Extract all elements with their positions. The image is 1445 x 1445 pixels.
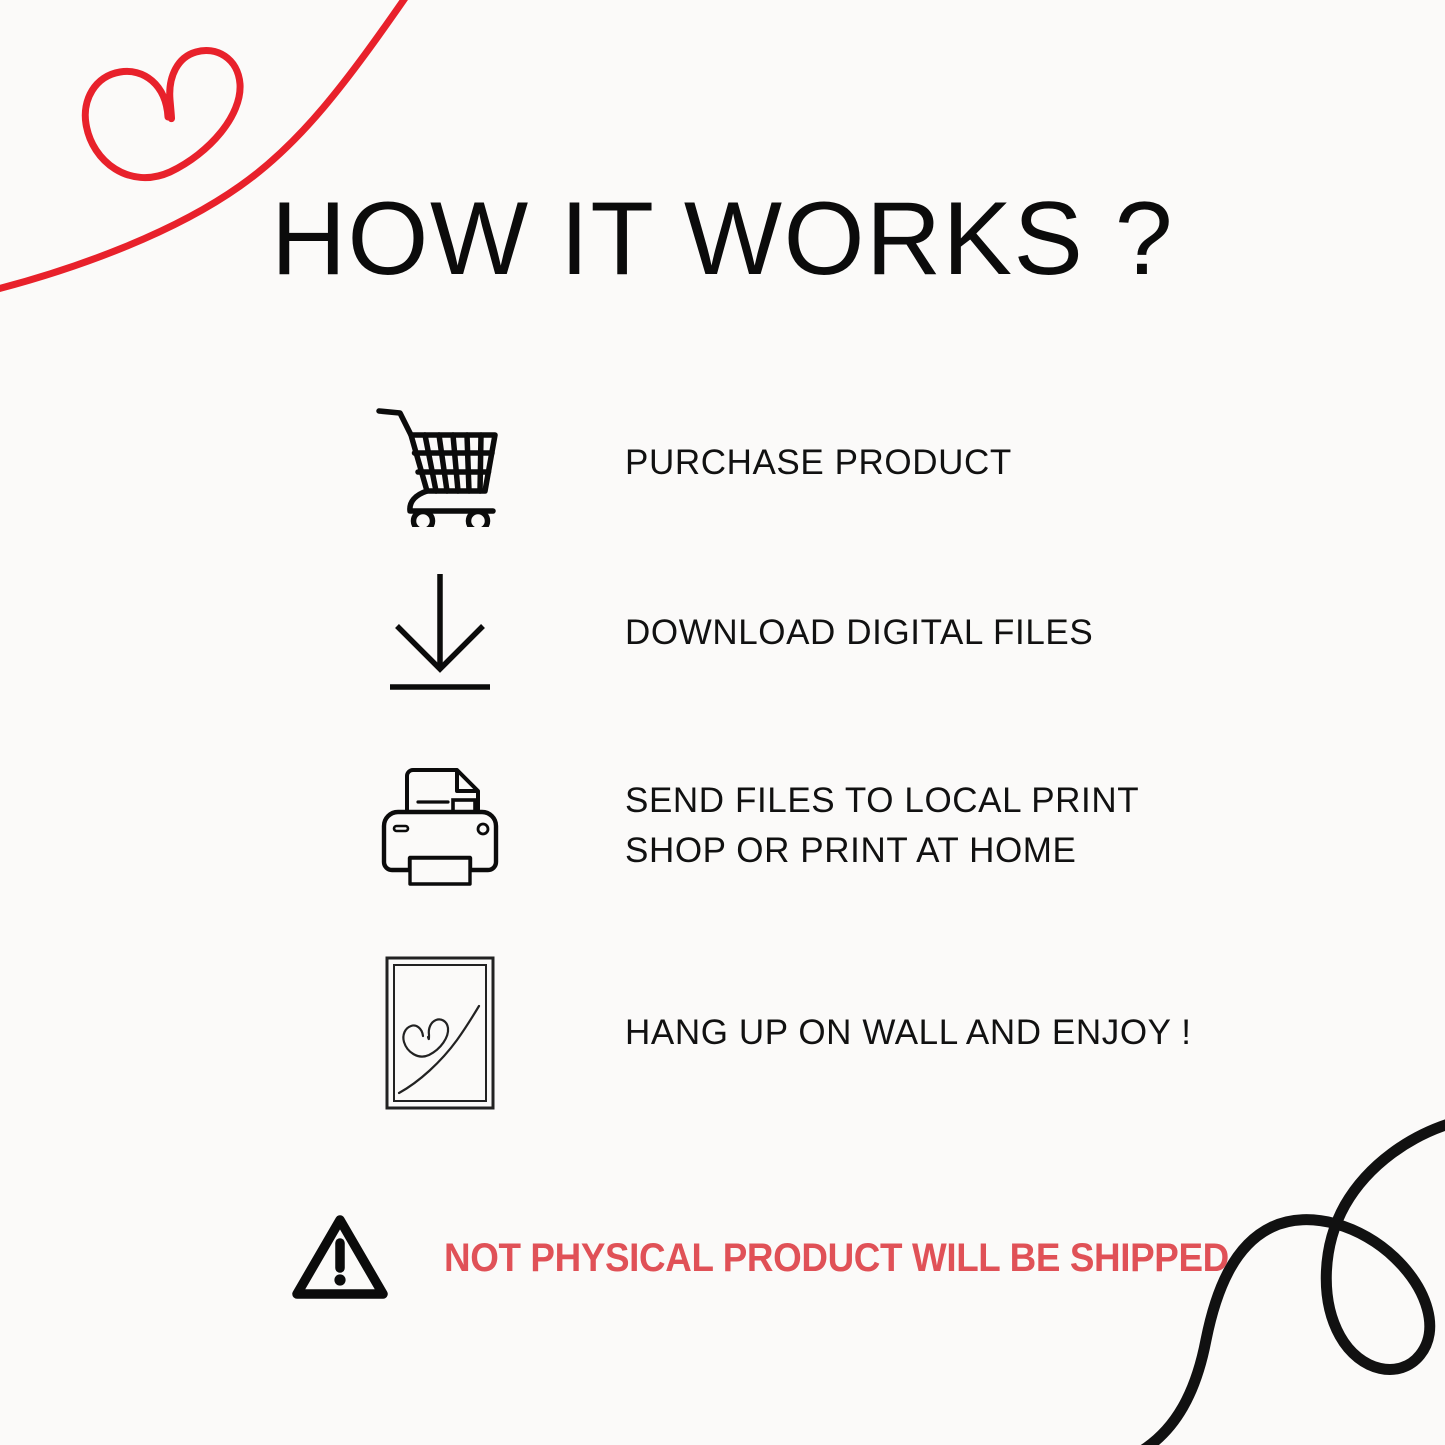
step-item-download: DOWNLOAD DIGITAL FILES	[365, 548, 1265, 718]
step-label-hang: HANG UP ON WALL AND ENJOY !	[625, 1008, 1192, 1058]
step-item-hang: HANG UP ON WALL AND ENJOY !	[365, 933, 1265, 1133]
disclaimer-banner: NOT PHYSICAL PRODUCT WILL BE SHIPPED	[288, 1212, 1297, 1304]
step-item-print: SEND FILES TO LOCAL PRINT SHOP OR PRINT …	[365, 718, 1265, 933]
step-label-print: SEND FILES TO LOCAL PRINT SHOP OR PRINT …	[625, 776, 1139, 875]
how-it-works-poster: HOW IT WORKS ?	[0, 0, 1445, 1445]
page-title: HOW IT WORKS ?	[0, 183, 1445, 295]
framed-art-icon	[365, 952, 515, 1114]
warning-triangle-icon	[288, 1212, 392, 1304]
printer-icon	[365, 758, 515, 894]
step-item-purchase: PURCHASE PRODUCT	[365, 378, 1265, 548]
step-label-purchase: PURCHASE PRODUCT	[625, 438, 1012, 488]
disclaimer-text: NOT PHYSICAL PRODUCT WILL BE SHIPPED	[444, 1236, 1229, 1281]
step-label-download: DOWNLOAD DIGITAL FILES	[625, 608, 1093, 658]
shopping-cart-icon	[365, 399, 515, 527]
download-arrow-icon	[365, 568, 515, 698]
steps-list: PURCHASE PRODUCT DOWNLOAD DIGITAL FILES	[365, 378, 1265, 1133]
